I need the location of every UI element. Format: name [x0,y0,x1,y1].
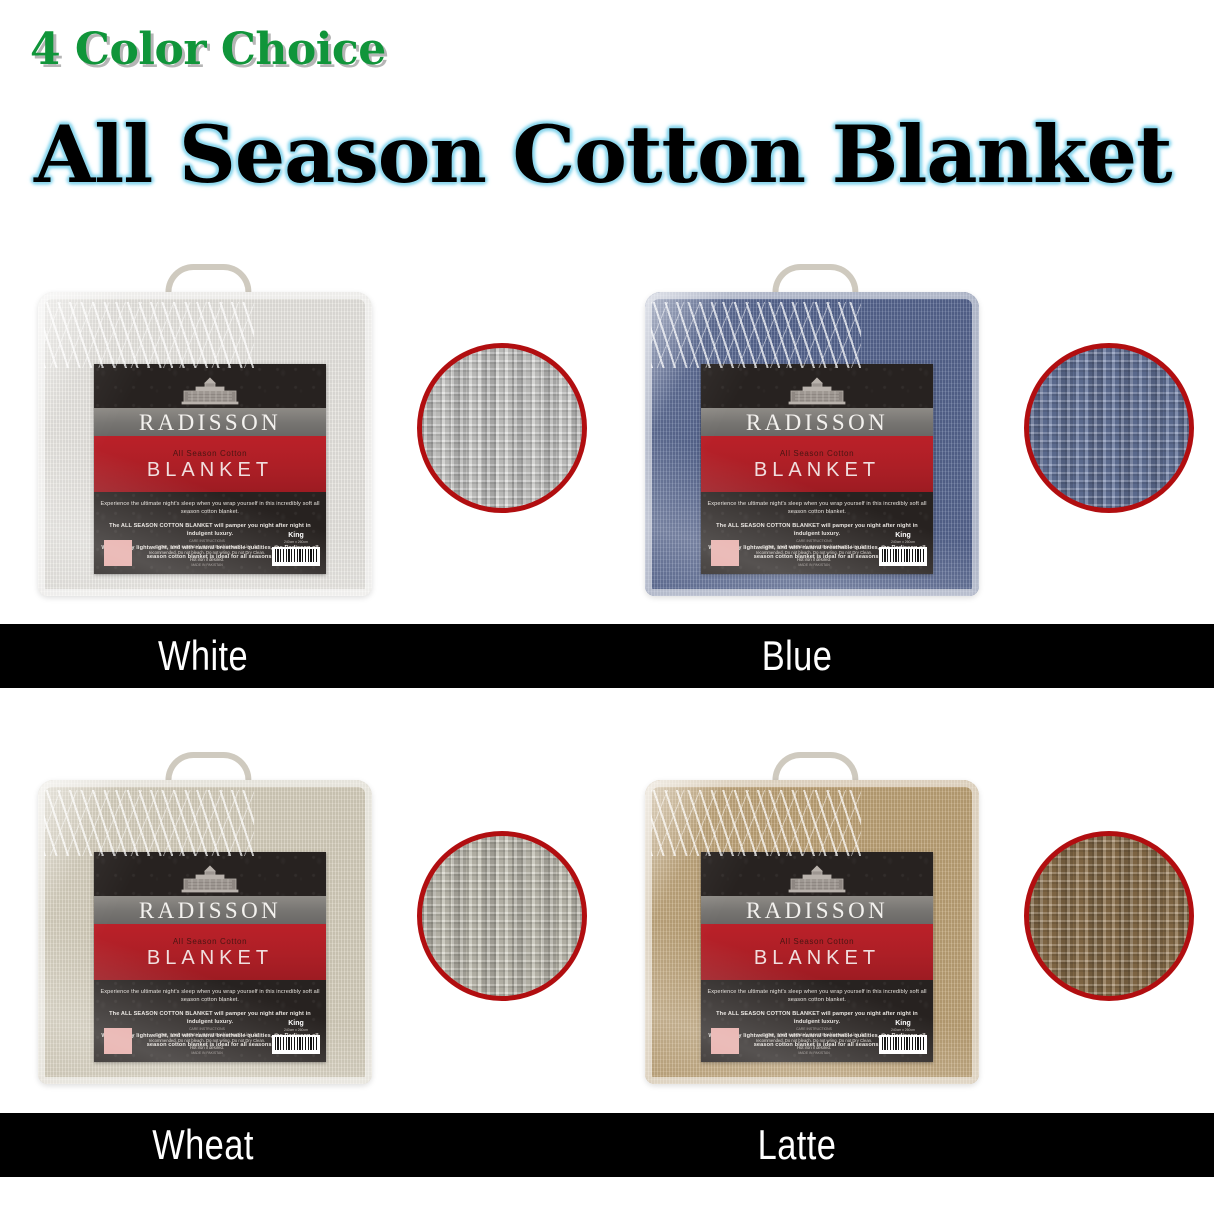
product-panel-white: RADISSON All Season Cotton BLANKET Exper… [0,256,607,620]
care-instructions: CARE INSTRUCTIONS Cotton. Wash separatel… [146,539,268,568]
size-dimensions: 240cm x 260cm [879,1028,927,1033]
product-panel-latte: RADISSON All Season Cotton BLANKET Exper… [607,744,1214,1108]
barcode [272,547,320,566]
brand-name: RADISSON [139,411,281,434]
care-instructions: CARE INSTRUCTIONS Cotton. Wash separatel… [753,1027,875,1056]
origin-text: MADE IN PAKISTAN [146,1051,268,1056]
product-label-card: RADISSON All Season Cotton BLANKET Exper… [701,852,933,1062]
label-product-word: BLANKET [147,948,273,968]
label-color-swatch-square [711,540,739,566]
size-name: King [879,532,927,539]
size-name: King [879,1020,927,1027]
product-red-band: All Season Cotton BLANKET [94,924,326,980]
barcode [879,547,927,566]
size-name: King [272,532,320,539]
fabric-weave-texture [1029,836,1189,996]
color-name-latte-label: Latte [758,1121,837,1169]
size-dimensions: 240cm x 260cm [272,540,320,545]
product-red-band: All Season Cotton BLANKET [94,436,326,492]
color-name-wheat-label: Wheat [152,1121,254,1169]
care-body: Cotton. Wash separately. Warm machine wa… [753,544,875,563]
color-name-latte: Latte [749,1121,845,1169]
care-body: Cotton. Wash separately. Warm machine wa… [146,1032,268,1051]
label-copy-line-1: Experience the ultimate night's sleep wh… [707,500,927,516]
size-block: King 240cm x 260cm [879,532,927,566]
product-label-card: RADISSON All Season Cotton BLANKET Exper… [94,852,326,1062]
color-name-blue-label: Blue [762,632,833,680]
package-photo: RADISSON All Season Cotton BLANKET Exper… [38,752,372,1084]
label-color-swatch-square [104,540,132,566]
origin-text: MADE IN PAKISTAN [753,1051,875,1056]
brand-name: RADISSON [139,899,281,922]
size-name: King [272,1020,320,1027]
page-title: All Season Cotton Blanket [34,108,1172,201]
fabric-swatch-circle [417,831,587,1001]
hotel-building-logo-icon [785,376,849,406]
product-panel-blue: RADISSON All Season Cotton BLANKET Exper… [607,256,1214,620]
label-color-swatch-square [104,1028,132,1054]
color-name-white: White [148,632,258,680]
care-body: Cotton. Wash separately. Warm machine wa… [146,544,268,563]
color-name-white-label: White [158,632,248,680]
package-photo: RADISSON All Season Cotton BLANKET Exper… [645,752,979,1084]
label-copy-line-1: Experience the ultimate night's sleep wh… [100,988,320,1004]
product-red-band: All Season Cotton BLANKET [701,436,933,492]
plastic-bag: RADISSON All Season Cotton BLANKET Exper… [38,780,372,1084]
product-label-card: RADISSON All Season Cotton BLANKET Exper… [94,364,326,574]
size-block: King 240cm x 260cm [879,1020,927,1054]
color-name-band-row-2: Wheat Latte [0,1113,1214,1177]
fabric-weave-texture [422,836,582,996]
label-subtitle: All Season Cotton [780,937,854,946]
brand-band: RADISSON [701,896,933,924]
label-color-swatch-square [711,1028,739,1054]
barcode [879,1035,927,1054]
brand-band: RADISSON [701,408,933,436]
label-copy-line-1: Experience the ultimate night's sleep wh… [100,500,320,516]
size-dimensions: 240cm x 260cm [272,1028,320,1033]
label-product-word: BLANKET [754,948,880,968]
fabric-swatch-circle [417,343,587,513]
hotel-building-logo-icon [178,376,242,406]
color-name-wheat: Wheat [141,1121,265,1169]
hotel-building-logo-icon [785,864,849,894]
brand-band: RADISSON [94,896,326,924]
product-red-band: All Season Cotton BLANKET [701,924,933,980]
header: 4 Color Choice All Season Cotton Blanket [0,0,1214,236]
label-subtitle: All Season Cotton [173,937,247,946]
label-copy-line-1: Experience the ultimate night's sleep wh… [707,988,927,1004]
care-instructions: CARE INSTRUCTIONS Cotton. Wash separatel… [753,539,875,568]
plastic-bag: RADISSON All Season Cotton BLANKET Exper… [645,292,979,596]
fabric-swatch-circle [1024,831,1194,1001]
size-block: King 240cm x 260cm [272,532,320,566]
subheadline: 4 Color Choice [30,24,386,75]
fabric-weave-texture [1029,348,1189,508]
care-body: Cotton. Wash separately. Warm machine wa… [753,1032,875,1051]
label-subtitle: All Season Cotton [780,449,854,458]
care-instructions: CARE INSTRUCTIONS Cotton. Wash separatel… [146,1027,268,1056]
size-dimensions: 240cm x 260cm [879,540,927,545]
package-photo: RADISSON All Season Cotton BLANKET Exper… [645,264,979,596]
product-label-card: RADISSON All Season Cotton BLANKET Exper… [701,364,933,574]
size-block: King 240cm x 260cm [272,1020,320,1054]
barcode [272,1035,320,1054]
plastic-bag: RADISSON All Season Cotton BLANKET Exper… [38,292,372,596]
color-name-blue: Blue [754,632,840,680]
label-subtitle: All Season Cotton [173,449,247,458]
brand-band: RADISSON [94,408,326,436]
hotel-building-logo-icon [178,864,242,894]
origin-text: MADE IN PAKISTAN [753,563,875,568]
brand-name: RADISSON [746,899,888,922]
color-name-band-row-1: White Blue [0,624,1214,688]
origin-text: MADE IN PAKISTAN [146,563,268,568]
label-product-word: BLANKET [147,460,273,480]
brand-name: RADISSON [746,411,888,434]
fabric-swatch-circle [1024,343,1194,513]
label-product-word: BLANKET [754,460,880,480]
plastic-bag: RADISSON All Season Cotton BLANKET Exper… [645,780,979,1084]
fabric-weave-texture [422,348,582,508]
package-photo: RADISSON All Season Cotton BLANKET Exper… [38,264,372,596]
product-panel-wheat: RADISSON All Season Cotton BLANKET Exper… [0,744,607,1108]
